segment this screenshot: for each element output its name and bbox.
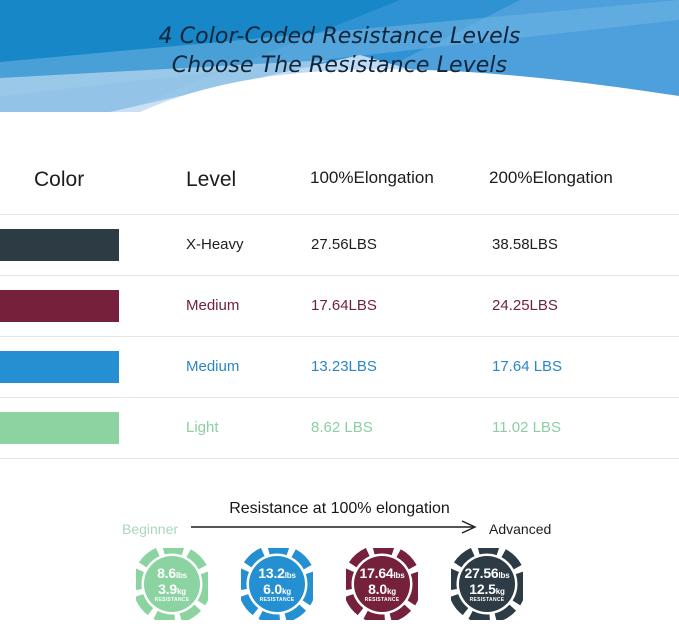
scale-start-label: Beginner <box>122 521 178 537</box>
resistance-badge: 27.56lbs 12.5kg RESISTANCE <box>451 548 523 620</box>
cell-level: X-Heavy <box>186 236 244 253</box>
cell-level: Medium <box>186 297 239 314</box>
cell-100-elongation: 13.23LBS <box>311 358 377 375</box>
cell-200-elongation: 11.02 LBS <box>492 419 561 436</box>
cell-100-elongation: 8.62 LBS <box>311 419 373 436</box>
cell-100-elongation: 27.56LBS <box>311 236 377 253</box>
resistance-scale-section: Resistance at 100% elongation Beginner A… <box>0 472 679 633</box>
table-divider <box>0 458 679 459</box>
color-swatch <box>0 229 119 261</box>
column-header-200-elong: 200%Elongation <box>489 168 613 188</box>
badge-ring-icon <box>136 548 208 620</box>
cell-level: Medium <box>186 358 239 375</box>
page-title: 4 Color-Coded Resistance Levels Choose T… <box>0 22 679 80</box>
column-header-color: Color <box>34 168 84 192</box>
cell-200-elongation: 24.25LBS <box>492 297 558 314</box>
scale-end-label: Advanced <box>489 521 551 537</box>
resistance-badge: 17.64lbs 8.0kg RESISTANCE <box>346 548 418 620</box>
table-row: Medium 17.64LBS 24.25LBS <box>0 276 679 336</box>
resistance-badge: 13.2lbs 6.0kg RESISTANCE <box>241 548 313 620</box>
cell-level: Light <box>186 419 219 436</box>
scale-title: Resistance at 100% elongation <box>0 500 679 518</box>
arrow-right-icon <box>191 520 481 534</box>
badge-row: 8.6lbs 3.9kg RESISTANCE 13.2lbs 6.0kg <box>0 548 679 633</box>
column-header-100-elong: 100%Elongation <box>310 168 434 188</box>
table-row: Medium 13.23LBS 17.64 LBS <box>0 337 679 397</box>
resistance-table: Color Level 100%Elongation 200%Elongatio… <box>0 112 679 459</box>
table-row: X-Heavy 27.56LBS 38.58LBS <box>0 215 679 275</box>
color-swatch <box>0 290 119 322</box>
cell-100-elongation: 17.64LBS <box>311 297 377 314</box>
header-banner: 4 Color-Coded Resistance Levels Choose T… <box>0 0 679 112</box>
table-row: Light 8.62 LBS 11.02 LBS <box>0 398 679 458</box>
page-title-line1: 4 Color-Coded Resistance Levels <box>159 24 521 49</box>
badge-ring-icon <box>241 548 313 620</box>
cell-200-elongation: 17.64 LBS <box>492 358 562 375</box>
resistance-badge: 8.6lbs 3.9kg RESISTANCE <box>136 548 208 620</box>
color-swatch <box>0 412 119 444</box>
column-header-level: Level <box>186 168 236 192</box>
badge-ring-icon <box>451 548 523 620</box>
cell-200-elongation: 38.58LBS <box>492 236 558 253</box>
badge-ring-icon <box>346 548 418 620</box>
page-title-line2: Choose The Resistance Levels <box>0 51 679 80</box>
table-header-row: Color Level 100%Elongation 200%Elongatio… <box>0 112 679 214</box>
color-swatch <box>0 351 119 383</box>
